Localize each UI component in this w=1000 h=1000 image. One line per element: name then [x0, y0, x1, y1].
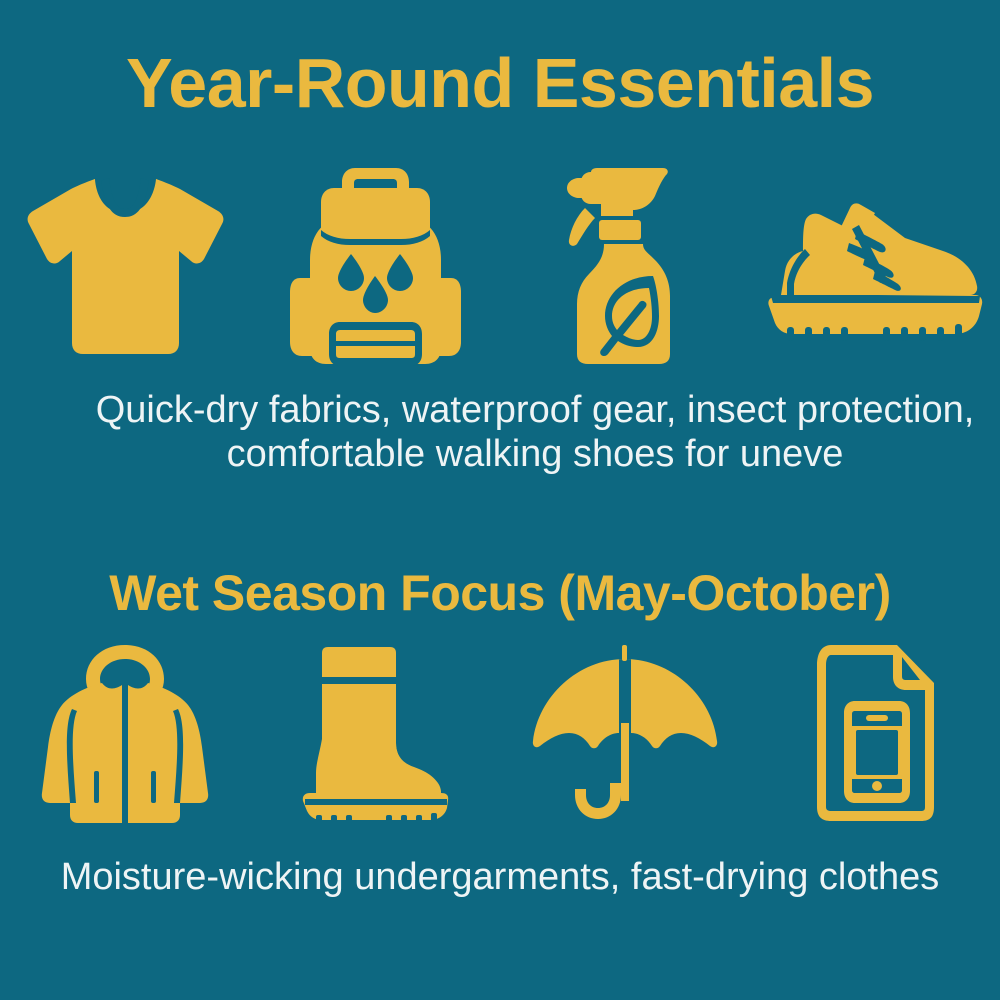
rain-boot-icon [300, 643, 450, 823]
waterproof-backpack-icon [288, 166, 463, 366]
icon-cell-rain-boot [260, 638, 490, 828]
icon-cell-backpack [260, 158, 490, 373]
tshirt-icon [23, 171, 228, 361]
section-heading-year-round: Year-Round Essentials [0, 48, 1000, 118]
icon-cell-rain-jacket [10, 638, 240, 828]
icon-cell-tshirt [10, 158, 240, 373]
section-heading-wet-season: Wet Season Focus (May-October) [0, 568, 1000, 618]
hiking-boot-icon [765, 191, 985, 341]
section-body-wet-season: Moisture-wicking undergarments, fast-dry… [0, 855, 1000, 899]
icon-cell-umbrella [510, 638, 740, 828]
umbrella-icon [530, 643, 720, 823]
infographic-canvas: Year-Round Essentials [0, 0, 1000, 1000]
waterproof-document-phone-icon [813, 643, 938, 823]
icon-row-wet-season [0, 638, 1000, 828]
section-body-year-round: Quick-dry fabrics, waterproof gear, inse… [30, 388, 1000, 477]
icon-cell-spray-bottle [510, 158, 740, 373]
icon-cell-waterproof-document [760, 638, 990, 828]
rain-jacket-icon [40, 643, 210, 823]
insect-repellent-spray-icon [555, 166, 695, 366]
icon-cell-hiking-boot [760, 158, 990, 373]
icon-row-year-round [0, 158, 1000, 373]
